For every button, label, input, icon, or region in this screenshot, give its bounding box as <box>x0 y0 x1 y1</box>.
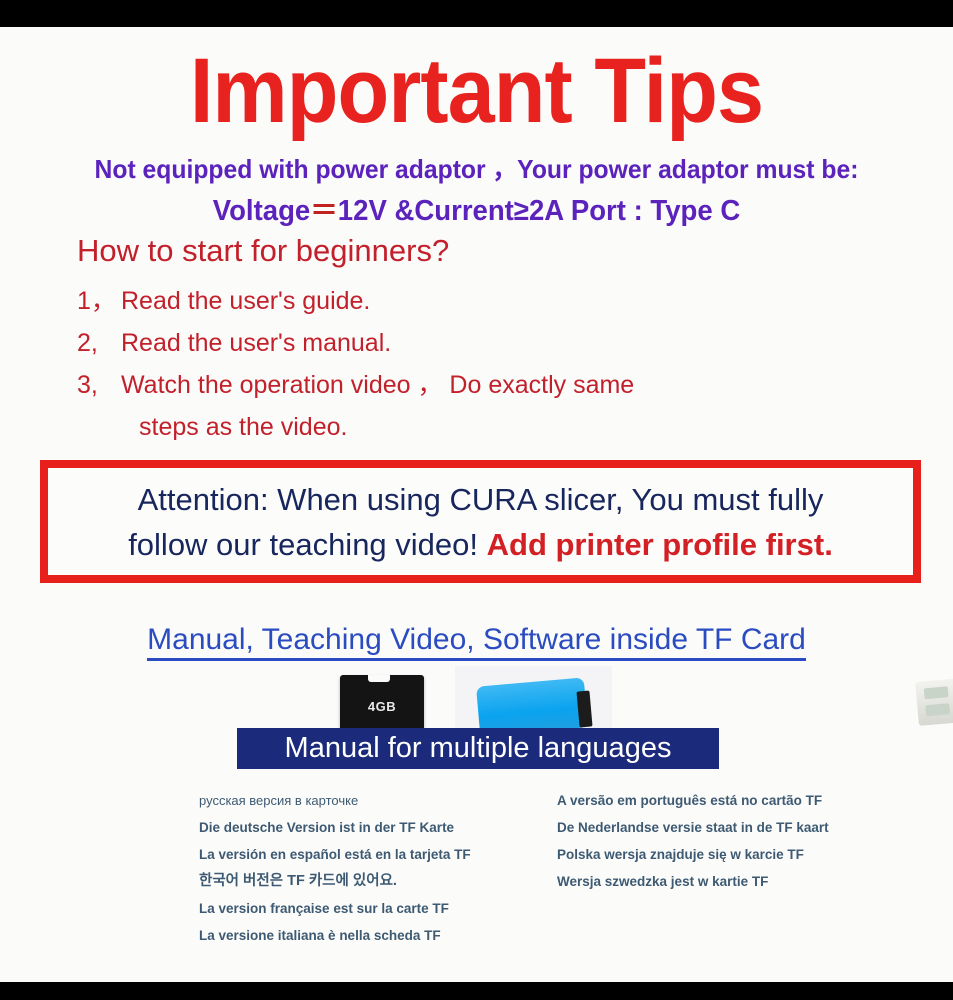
list-item: La versión en español está en la tarjeta… <box>199 841 529 868</box>
usb-pin-upper <box>924 686 949 699</box>
language-column-right: A versão em português está no cartão TF … <box>557 787 907 895</box>
language-column-left: русская версия в карточке Die deutsche V… <box>199 787 529 949</box>
list-item: 2, Read the user's manual. <box>77 322 897 364</box>
adaptor-spec-line: Voltage＝12V &Current≥2A Port : Type C <box>24 187 929 229</box>
poster-canvas: Important Tips Not equipped with power a… <box>0 27 953 982</box>
step-text: Read the user's manual. <box>121 322 897 364</box>
tf-card-contents-note: Manual, Teaching Video, Software inside … <box>0 623 953 657</box>
card-reader-usb-connector <box>915 678 953 726</box>
attention-callout-box: Attention: When using CURA slicer, You m… <box>40 460 921 583</box>
microsd-notch <box>368 675 390 682</box>
language-lists: русская версия в карточке Die deutsche V… <box>0 787 953 967</box>
list-item: La version française est sur la carte TF <box>199 895 529 922</box>
list-item: Wersja szwedzka jest w kartie TF <box>557 868 907 895</box>
list-item: A versão em português está no cartão TF <box>557 787 907 814</box>
tf-card-contents-text: Manual, Teaching Video, Software inside … <box>147 623 806 661</box>
languages-banner-text: Manual for multiple languages <box>285 732 672 765</box>
microsd-capacity-label: 4GB <box>340 699 424 714</box>
list-item: De Nederlandse versie staat in de TF kaa… <box>557 814 907 841</box>
step-text: Watch the operation video ， Do exactly s… <box>121 364 897 406</box>
list-item: Polska wersja znajduje się w karcie TF <box>557 841 907 868</box>
attention-callout-content: Attention: When using CURA slicer, You m… <box>48 468 913 575</box>
step-number: 2, <box>77 322 121 364</box>
beginners-step-list: 1， Read the user's guide. 2, Read the us… <box>77 280 897 448</box>
beginners-heading: How to start for beginners? <box>77 233 449 269</box>
adaptor-spec-values: 12V &Current≥2A Port : Type C <box>338 195 740 227</box>
page-title: Important Tips <box>38 45 915 137</box>
list-item: La versione italiana è nella scheda TF <box>199 922 529 949</box>
attention-line-1: Attention: When using CURA slicer, You m… <box>138 477 824 523</box>
letterbox-top <box>0 0 953 27</box>
adaptor-notice-line-1: Not equipped with power adaptor ，Your po… <box>24 149 929 186</box>
attention-line-2-text: follow our teaching video! <box>128 527 486 562</box>
languages-banner: Manual for multiple languages <box>237 728 719 769</box>
list-item: Die deutsche Version ist in der TF Karte <box>199 814 529 841</box>
step-continuation: steps as the video. <box>77 406 897 448</box>
usb-pin-lower <box>925 703 950 716</box>
step-number: 1， <box>77 280 121 322</box>
adaptor-voltage-label: Voltage <box>213 195 310 227</box>
adaptor-equals-sign: ＝ <box>310 195 338 227</box>
step-text: Read the user's guide. <box>121 280 897 322</box>
list-item: 3, Watch the operation video ， Do exactl… <box>77 364 897 406</box>
step-number: 3, <box>77 364 121 406</box>
list-item: 한국어 버전은 TF 카드에 있어요. <box>199 868 529 895</box>
letterbox-bottom <box>0 982 953 1000</box>
list-item: 1， Read the user's guide. <box>77 280 897 322</box>
attention-line-2: follow our teaching video! Add printer p… <box>128 523 833 567</box>
poster-screenshot: Important Tips Not equipped with power a… <box>0 0 953 1000</box>
attention-emphasis: Add printer profile first. <box>487 527 833 562</box>
list-item: русская версия в карточке <box>199 787 529 814</box>
